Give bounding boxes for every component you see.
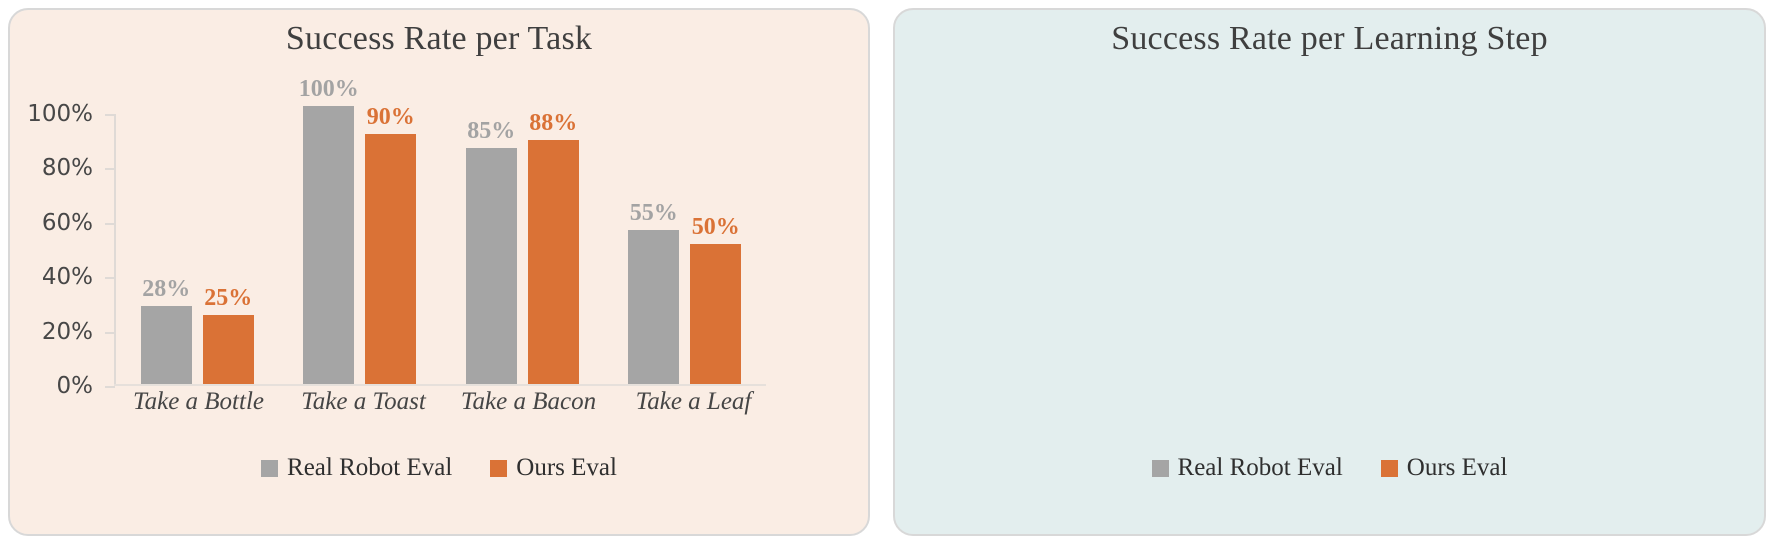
y-tick-label-60: 60% [42, 210, 93, 236]
legend-left: Real Robot Eval Ours Eval [10, 454, 868, 482]
bar-value-label: 88% [529, 110, 577, 137]
x-axis-baseline [114, 384, 766, 386]
y-tick-100: 100% [105, 114, 115, 116]
y-tick-80: 80% [105, 168, 115, 170]
bar-value-label: 55% [630, 200, 678, 227]
y-tick-40: 40% [105, 277, 115, 279]
bar-real-robot-eval[interactable] [141, 306, 192, 384]
legend-item-real-robot-eval[interactable]: Real Robot Eval [1152, 454, 1343, 482]
bar-slot: 88% [528, 106, 579, 384]
x-axis-category-label: Take a Bottle [116, 388, 281, 416]
bar-slot: 28% [141, 106, 192, 384]
plot-area-left: 100% 80% 60% 40% 20% 0% 28% [106, 106, 766, 386]
figure-root: Success Rate per Task 100% 80% 60% 40% 2… [0, 0, 1774, 550]
y-tick-20: 20% [105, 332, 115, 334]
y-tick-label-40: 40% [42, 264, 93, 290]
bar-value-label: 90% [367, 104, 415, 131]
square-swatch-orange-icon [490, 460, 507, 477]
chart-panel-success-rate-per-learning-step: Success Rate per Learning Step 100% 80% … [893, 8, 1766, 536]
bar-ours-eval[interactable] [203, 315, 254, 384]
y-tick-label-20: 20% [42, 319, 93, 345]
bar-ours-eval[interactable] [690, 244, 741, 384]
bar-group: 55% 50% [604, 106, 767, 384]
y-tick-label-80: 80% [42, 155, 93, 181]
legend-right: Real Robot Eval Ours Eval [895, 454, 1764, 482]
bar-value-label: 50% [692, 214, 740, 241]
legend-item-real-robot-eval[interactable]: Real Robot Eval [261, 454, 452, 482]
y-tick-0: 0% [105, 386, 115, 388]
bar-value-label: 85% [467, 118, 515, 145]
square-swatch-orange-icon [1381, 460, 1398, 477]
bar-value-label: 25% [204, 285, 252, 312]
bar-ours-eval[interactable] [365, 134, 416, 384]
bar-value-label: 100% [299, 76, 359, 103]
legend-item-ours-eval[interactable]: Ours Eval [490, 454, 617, 482]
bar-group: 100% 90% [279, 106, 442, 384]
bar-slot: 55% [628, 106, 679, 384]
square-swatch-gray-icon [1152, 460, 1169, 477]
bar-slot: 90% [365, 106, 416, 384]
x-axis-category-label: Take a Toast [281, 388, 446, 416]
y-tick-label-100: 100% [27, 101, 93, 127]
bar-group: 85% 88% [441, 106, 604, 384]
bar-real-robot-eval[interactable] [628, 230, 679, 384]
bar-slot: 50% [690, 106, 741, 384]
bar-value-label: 28% [142, 276, 190, 303]
bar-real-robot-eval[interactable] [466, 148, 517, 384]
legend-label: Real Robot Eval [287, 454, 452, 482]
page-title: Success Rate per Task [10, 20, 868, 58]
x-axis-category-label: Take a Leaf [611, 388, 776, 416]
legend-item-ours-eval[interactable]: Ours Eval [1381, 454, 1508, 482]
bar-slot: 25% [203, 106, 254, 384]
legend-label: Ours Eval [516, 454, 617, 482]
legend-label: Ours Eval [1407, 454, 1508, 482]
chart-panel-success-rate-per-task: Success Rate per Task 100% 80% 60% 40% 2… [8, 8, 870, 536]
x-axis-category-label: Take a Bacon [446, 388, 611, 416]
y-tick-label-0: 0% [57, 373, 94, 399]
x-axis-category-labels-left: Take a Bottle Take a Toast Take a Bacon … [116, 388, 776, 416]
bar-ours-eval[interactable] [528, 140, 579, 384]
legend-label: Real Robot Eval [1178, 454, 1343, 482]
bar-slot: 100% [303, 106, 354, 384]
bar-real-robot-eval[interactable] [303, 106, 354, 384]
y-tick-60: 60% [105, 223, 115, 225]
page-title: Success Rate per Learning Step [895, 20, 1764, 58]
bar-groups-left: 28% 25% 100% 90% [116, 106, 766, 384]
bar-slot: 85% [466, 106, 517, 384]
bar-group: 28% 25% [116, 106, 279, 384]
square-swatch-gray-icon [261, 460, 278, 477]
